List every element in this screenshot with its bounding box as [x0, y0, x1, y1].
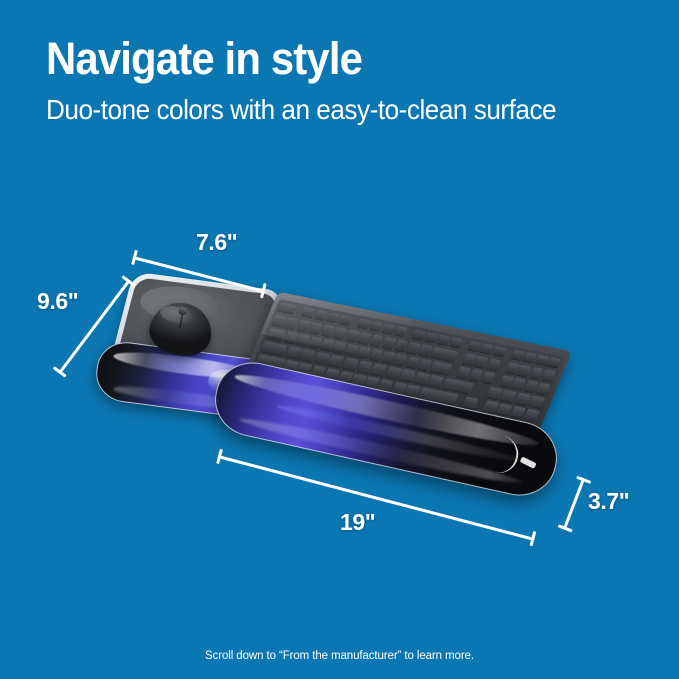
- page-subtitle: Duo-tone colors with an easy-to-clean su…: [46, 93, 556, 127]
- product-marketing-image: Navigate in style Duo-tone colors with a…: [0, 0, 679, 679]
- mouse-gloss: [159, 304, 194, 326]
- dimension-label-keyboard-rest-depth: 3.7": [588, 488, 629, 515]
- footnote-text: Scroll down to “From the manufacturer” t…: [0, 650, 679, 662]
- page-title: Navigate in style: [46, 33, 362, 85]
- dimension-line-keyboard-rest-depth: [563, 478, 585, 530]
- dimension-label-mousepad-width: 7.6": [196, 229, 237, 256]
- dimension-label-mousepad-depth: 9.6": [37, 288, 78, 315]
- dimension-label-keyboard-rest-width: 19": [340, 509, 375, 536]
- gel-reflection-spark: [520, 456, 537, 469]
